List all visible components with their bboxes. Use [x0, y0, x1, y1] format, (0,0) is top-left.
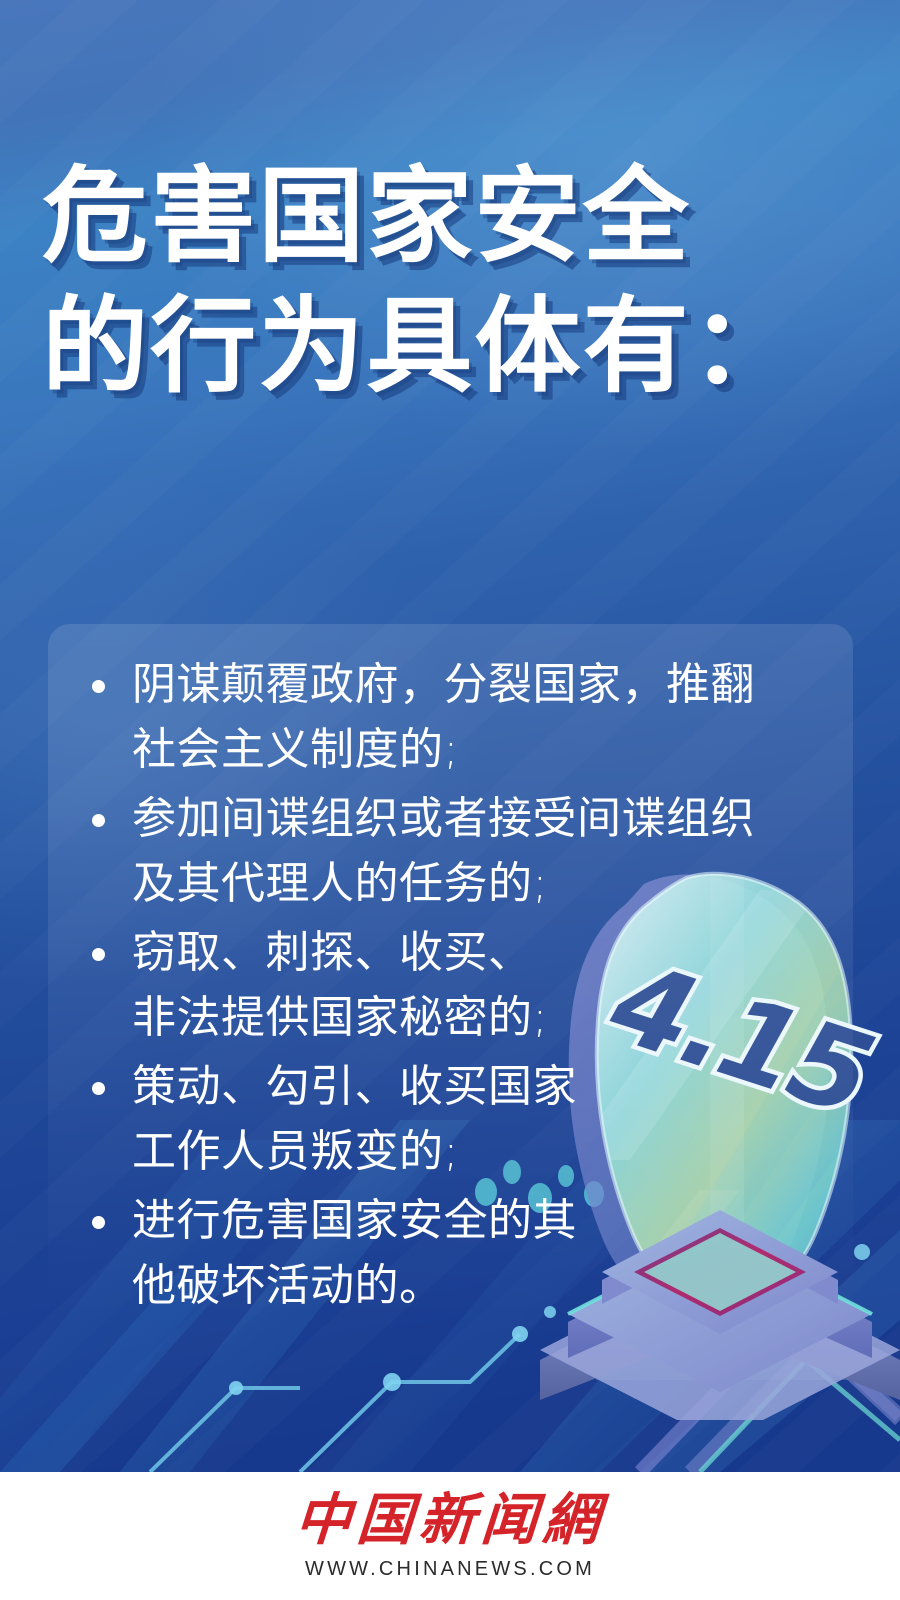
list-item: 策动、勾引、收买国家 工作人员叛变的; [48, 1054, 808, 1184]
bullet-dot-icon [92, 814, 105, 827]
page-title: 危害国家安全 的行为具体有： [42, 158, 862, 406]
list-item-text: 窃取、刺探、收买、 非法提供国家秘密的; [132, 927, 548, 1043]
footer-bar: 中国新闻網 WWW.CHINANEWS.COM [0, 1472, 900, 1600]
list-item-text: 进行危害国家安全的其 他破坏活动的。 [132, 1195, 577, 1311]
list-item-text: 参加间谍组织或者接受间谍组织 及其代理人的任务的; [132, 793, 755, 909]
list-item-text: 策动、勾引、收买国家 工作人员叛变的; [132, 1061, 577, 1177]
bullet-dot-icon [92, 948, 105, 961]
list-item: 阴谋颠覆政府，分裂国家，推翻 社会主义制度的; [48, 652, 808, 782]
bullet-dot-icon [92, 1216, 105, 1229]
bullet-dot-icon [92, 680, 105, 693]
poster-root: 危害国家安全 的行为具体有： [0, 0, 900, 1600]
violation-list: 阴谋颠覆政府，分裂国家，推翻 社会主义制度的; 参加间谍组织或者接受间谍组织 及… [48, 652, 808, 1322]
list-item: 窃取、刺探、收买、 非法提供国家秘密的; [48, 920, 808, 1050]
chinanews-logo: 中国新闻網 [293, 1491, 607, 1550]
bullet-dot-icon [92, 1082, 105, 1095]
list-item: 参加间谍组织或者接受间谍组织 及其代理人的任务的; [48, 786, 808, 916]
chinanews-url: WWW.CHINANEWS.COM [305, 1558, 595, 1581]
list-item-text: 阴谋颠覆政府，分裂国家，推翻 社会主义制度的; [132, 659, 755, 775]
title-line-2: 的行为具体有： [42, 288, 878, 406]
list-item: 进行危害国家安全的其 他破坏活动的。 [48, 1188, 808, 1318]
title-line-1: 危害国家安全 [42, 158, 878, 276]
